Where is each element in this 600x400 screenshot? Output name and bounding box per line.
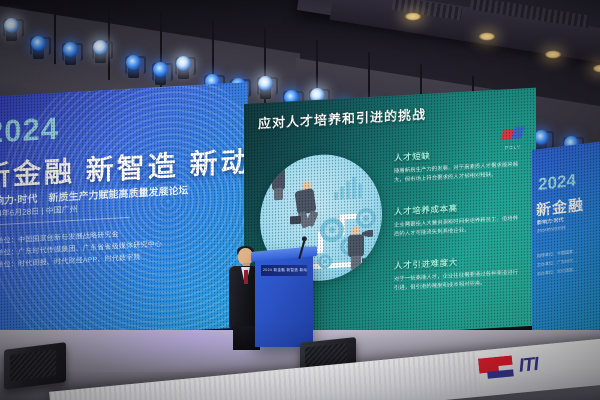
sponsor-logo-icon — [478, 355, 514, 382]
slide-section-1: 人才短缺 随着新质生产力的发展，对于高素质人才需求越来越大，但市场上符合要求的人… — [394, 145, 519, 187]
right-screen-year: 2024 — [538, 171, 576, 196]
slide-section-1-body: 随着新质生产力的发展，对于高素质人才需求越来越大，但市场上符合要求的人才却相对短… — [394, 161, 519, 187]
stage-monitor-speaker-left — [4, 342, 66, 390]
slide-title: 应对人才培养和引进的挑战 — [258, 104, 426, 132]
sponsor-logo-blue-bar — [487, 369, 514, 378]
slide-corner-logo: POLY — [500, 126, 526, 150]
slide-section-2: 人才培养成本高 企业需要投入大量资源和时间来培养新员工，但培养后的人才可能流失到… — [394, 199, 519, 241]
slide-section-3-body: 对于一些高端人才，企业往往需要通过各种渠道进行引进，但引进的难度和成本相对较高。 — [394, 269, 519, 295]
right-screen-date: 2024年6月28日 — [537, 225, 566, 235]
right-screen-organizer-3: 承办单位：时代周报… — [537, 266, 577, 277]
podium: 2024 新金融 新智造 新动能 — [255, 255, 313, 347]
ceiling-downlight — [478, 32, 496, 41]
poly-logo-icon — [502, 126, 524, 143]
left-screen-year: 2024 — [0, 111, 59, 151]
sponsor-wordmark: ITI — [518, 354, 539, 378]
ceiling-downlight — [404, 12, 422, 21]
left-screen-divider — [0, 217, 130, 226]
speaker-tie — [244, 270, 248, 284]
left-screen-subtitle-text: 新质生产力赋能高质量发展论坛 — [48, 185, 188, 204]
slide-section-2-body: 企业需要投入大量资源和时间来培养新员工，但培养后的人才可能流失到其他企业。 — [394, 215, 519, 241]
speaker-grill — [10, 349, 56, 381]
poly-logo-label: POLY — [500, 144, 526, 150]
ceiling-downlight — [544, 50, 562, 59]
slide-section-3: 人才引进难度大 对于一些高端人才，企业往往需要通过各种渠道进行引进，但引进的难度… — [394, 253, 519, 295]
wall-mullion — [54, 2, 56, 64]
podium-branding-plate: 2024 新金融 新智造 新动能 — [261, 265, 307, 276]
podium-plate-text: 2024 新金融 新智造 新动能 — [261, 265, 307, 273]
led-screen-left: 2024 新金融 新智造 新动能 影响力·时代 新质生产力赋能高质量发展论坛 2… — [0, 82, 248, 341]
conference-stage-photo: 2024 新金融 新智造 新动能 影响力·时代 新质生产力赋能高质量发展论坛 2… — [0, 0, 600, 400]
